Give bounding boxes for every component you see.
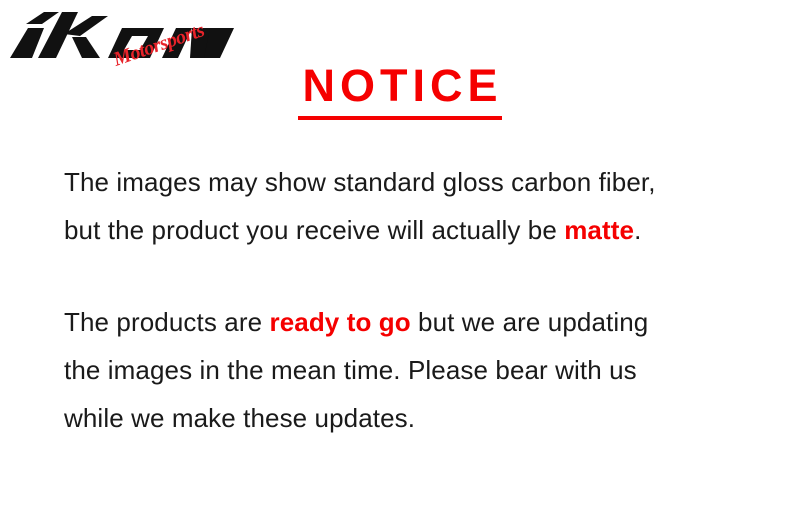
text-run: The products are — [64, 307, 269, 337]
body-line: while we make these updates. — [64, 394, 764, 442]
text-run: The images may show standard gloss carbo… — [64, 167, 656, 197]
text-run: but we are updating — [411, 307, 649, 337]
notice-heading-block: NOTICE — [232, 62, 568, 120]
paragraph-2: The products are ready to go but we are … — [64, 298, 764, 442]
text-run: the images in the mean time. Please bear… — [64, 355, 637, 385]
notice-title: NOTICE — [232, 62, 568, 110]
text-run: . — [634, 215, 641, 245]
text-run: while we make these updates. — [64, 403, 415, 433]
body-line: The images may show standard gloss carbo… — [64, 158, 764, 206]
body-line: the images in the mean time. Please bear… — [64, 346, 764, 394]
body-line: The products are ready to go but we are … — [64, 298, 764, 346]
paragraph-1: The images may show standard gloss carbo… — [64, 158, 764, 254]
notice-banner: Motorsports NOTICE The images may show s… — [0, 0, 800, 510]
emphasis-matte: matte — [564, 215, 634, 245]
ikon-motorsports-logo: Motorsports — [4, 4, 254, 76]
body-line: but the product you receive will actuall… — [64, 206, 764, 254]
notice-underline — [298, 116, 502, 120]
emphasis-ready-to-go: ready to go — [269, 307, 410, 337]
text-run: but the product you receive will actuall… — [64, 215, 564, 245]
notice-body: The images may show standard gloss carbo… — [64, 158, 764, 442]
